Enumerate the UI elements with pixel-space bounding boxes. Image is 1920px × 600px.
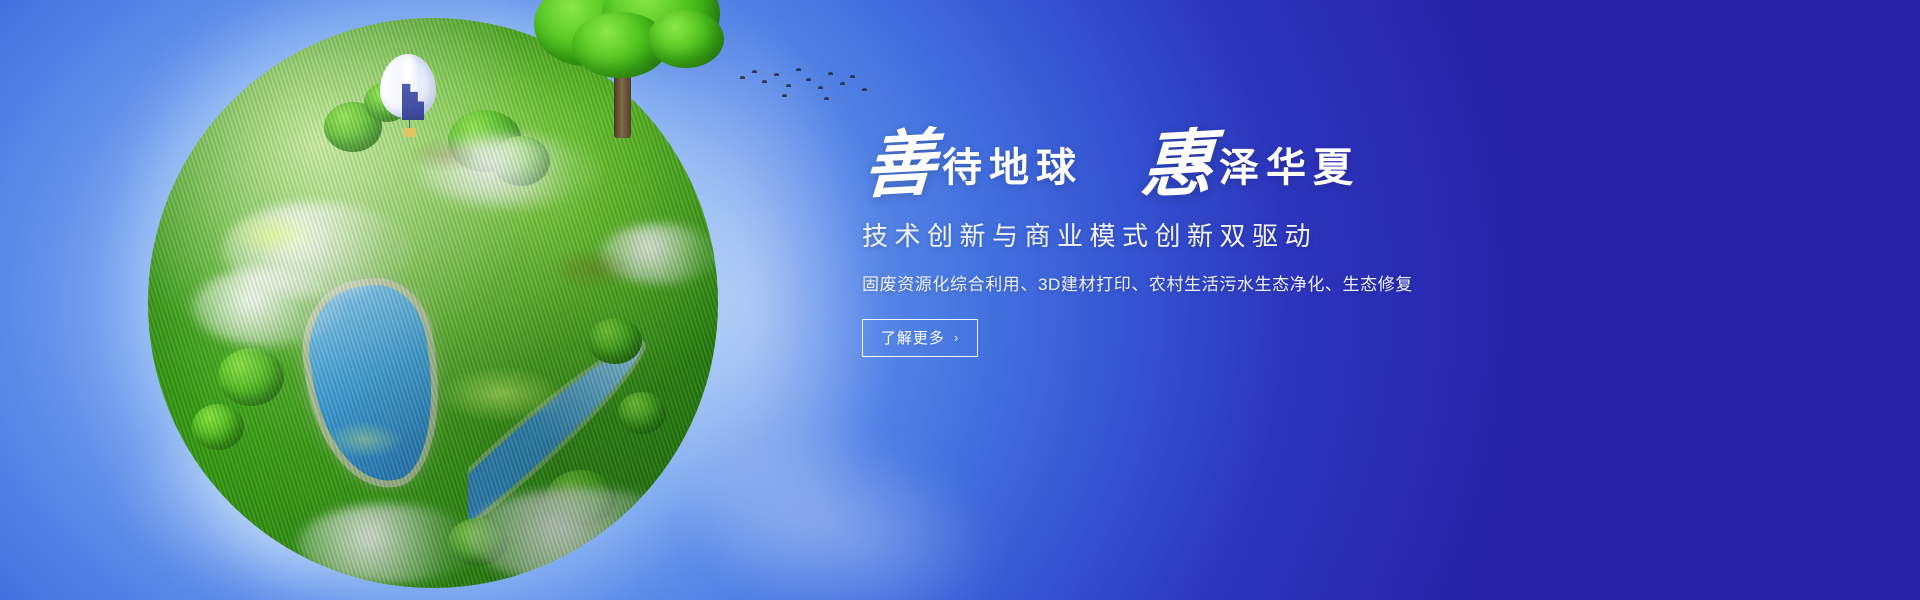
green-planet-illustration: [148, 18, 718, 588]
headline: 善 待地球 惠 泽华夏: [862, 132, 1682, 200]
hot-air-balloon-icon: [380, 54, 436, 140]
river-icon: [468, 318, 718, 588]
chevron-right-icon: ›: [954, 330, 959, 345]
lake-icon: [301, 279, 445, 490]
large-tree-icon: [516, 0, 726, 126]
headline-part2-big: 惠: [1139, 128, 1215, 199]
tree-icon: [546, 470, 616, 526]
tree-crown: [648, 10, 724, 68]
subheadline: 技术创新与商业模式创新双驱动: [862, 216, 1682, 253]
tree-icon: [448, 110, 522, 172]
hero-copy: 善 待地球 惠 泽华夏 技术创新与商业模式创新双驱动 固废资源化综合利用、3D建…: [862, 132, 1682, 357]
tree-icon: [448, 518, 508, 566]
tree-icon: [218, 348, 284, 406]
cloud-icon: [418, 136, 598, 206]
cloud-icon: [192, 268, 342, 346]
learn-more-label: 了解更多: [881, 327, 945, 348]
tree-icon: [588, 318, 642, 364]
cloud-icon: [600, 224, 718, 284]
tree-icon: [324, 102, 382, 152]
tree-icon: [618, 392, 666, 434]
hero-banner: 善 待地球 惠 泽华夏 技术创新与商业模式创新双驱动 固废资源化综合利用、3D建…: [0, 0, 1920, 600]
balloon-basket: [403, 128, 416, 137]
headline-part1-small: 待地球: [942, 135, 1083, 200]
cloud-icon: [466, 488, 696, 584]
cloud-icon: [298, 504, 478, 584]
headline-part2-small: 泽华夏: [1219, 135, 1360, 200]
birds-flock-icon: [736, 66, 876, 108]
headline-part1-big: 善: [862, 128, 938, 199]
tree-icon: [492, 136, 550, 186]
description-text: 固废资源化综合利用、3D建材打印、农村生活污水生态净化、生态修复: [862, 270, 1682, 295]
learn-more-button[interactable]: 了解更多 ›: [862, 319, 978, 357]
cloud-icon: [222, 202, 412, 298]
tree-icon: [192, 404, 244, 450]
